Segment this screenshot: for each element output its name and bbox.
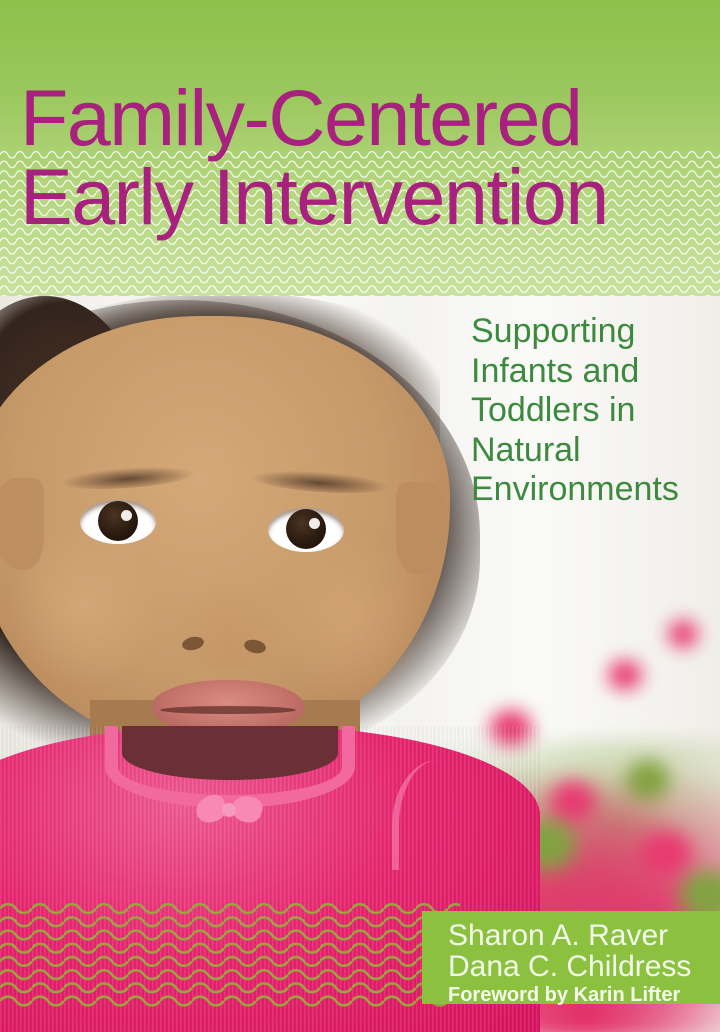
- child-iris-left: [98, 501, 138, 541]
- title-line-1: Family-Centered: [20, 78, 720, 157]
- subtitle-line-5: Environments: [471, 470, 720, 510]
- author-name-1: Sharon A. Raver: [448, 920, 720, 951]
- bow-knot: [222, 803, 236, 817]
- book-title: Family-Centered Early Intervention: [20, 78, 720, 236]
- flower-petal: [668, 620, 698, 648]
- subtitle-line-3: Toddlers in: [471, 391, 720, 431]
- flower-petal: [640, 830, 692, 874]
- child-nose: [170, 578, 288, 670]
- subtitle-line-1: Supporting: [471, 312, 720, 352]
- child-ear-left: [0, 478, 44, 570]
- subtitle-line-2: Infants and: [471, 352, 720, 392]
- flower-petal: [608, 660, 642, 690]
- book-subtitle: Supporting Infants and Toddlers in Natur…: [471, 312, 720, 510]
- title-line-2: Early Intervention: [20, 157, 720, 236]
- foreword-credit: Foreword by Karin Lifter: [448, 984, 720, 1006]
- eye-glint: [121, 510, 132, 521]
- book-cover: Family-Centered Early Intervention Suppo…: [0, 0, 720, 1032]
- child-lip-line: [160, 706, 296, 714]
- child-iris-right: [286, 509, 326, 549]
- child-eye-right: [268, 508, 344, 552]
- author-name-2: Dana C. Childress: [448, 951, 720, 982]
- flower-petal: [550, 780, 596, 820]
- shirt-bow: [196, 792, 262, 832]
- flower-leaf: [626, 760, 670, 800]
- child-eye-left: [80, 500, 156, 544]
- eye-glint: [309, 518, 320, 529]
- subtitle-line-4: Natural: [471, 431, 720, 471]
- shirt-wave-pattern: [0, 902, 460, 1008]
- author-block: Sharon A. Raver Dana C. Childress Forewo…: [422, 911, 720, 1004]
